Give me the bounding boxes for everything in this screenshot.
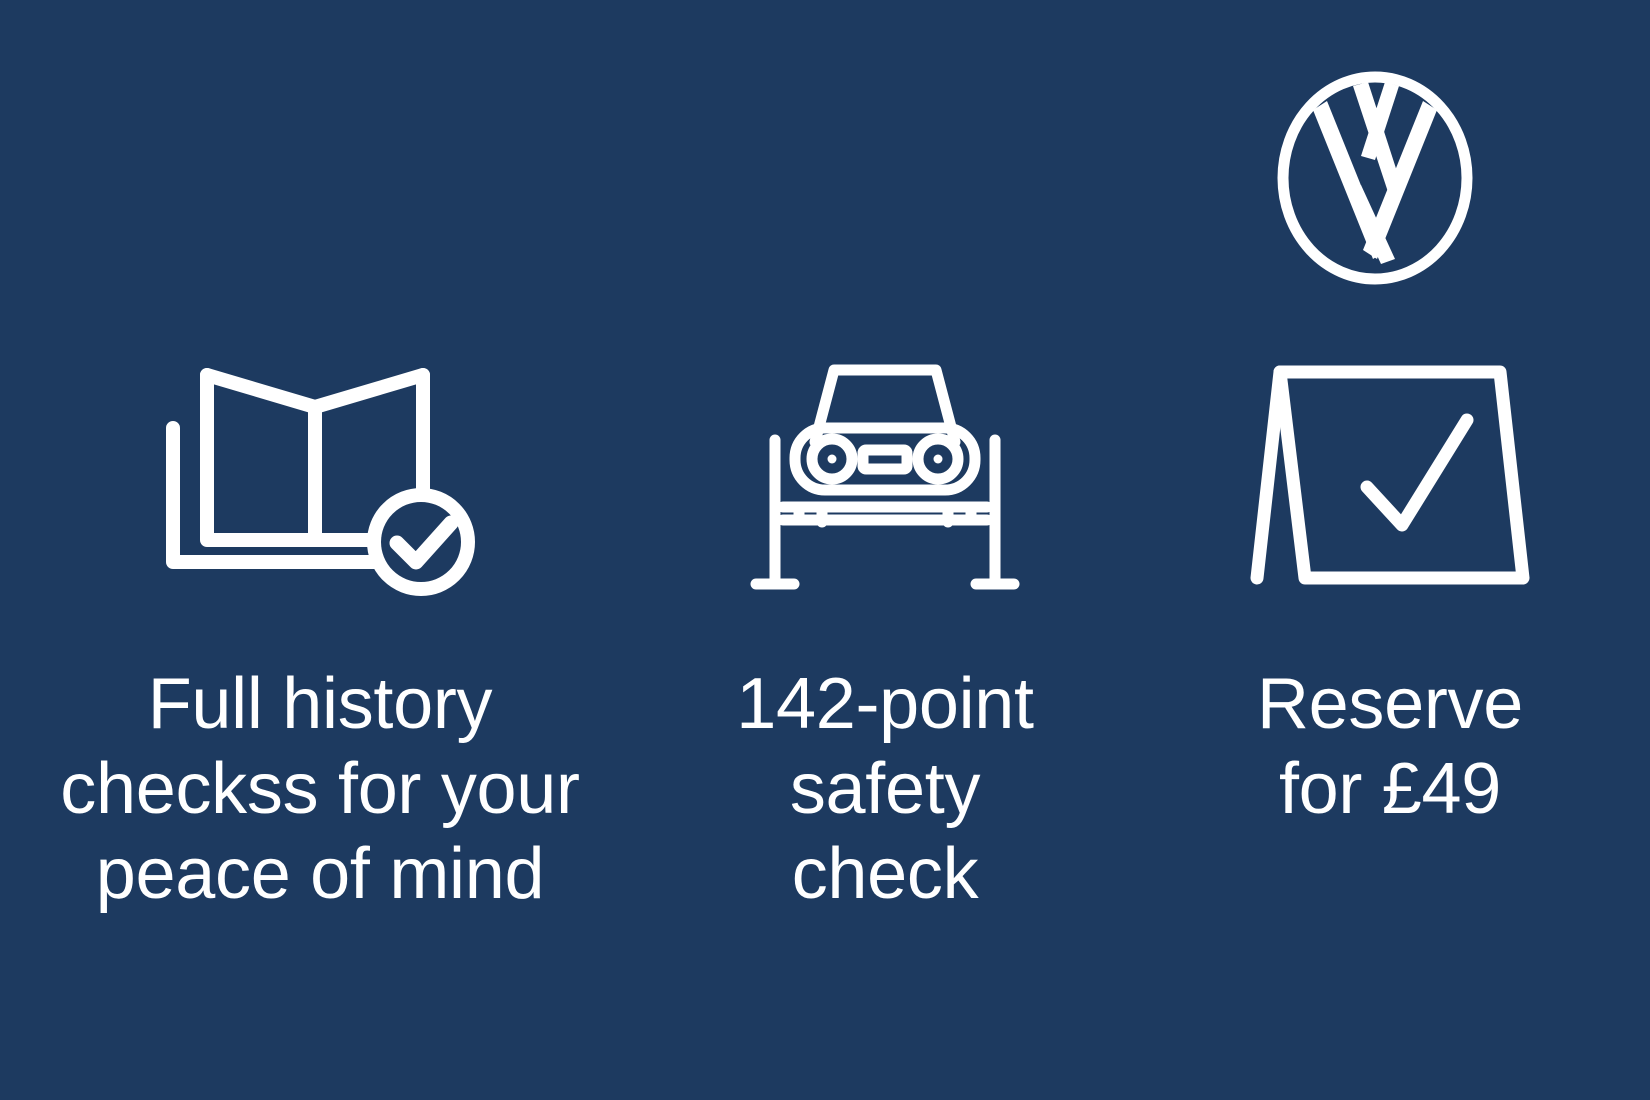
promo-banner: { "banner": { "background_color": "#1d3a… [0, 0, 1650, 1100]
feature-list: Full history checkss for your peace of m… [0, 330, 1650, 917]
feature-label: Full history checkss for your peace of m… [20, 662, 620, 917]
a-frame-sign-with-check-icon [1235, 330, 1545, 600]
volkswagen-logo-icon [1275, 68, 1475, 288]
feature-item-safety-check: 142-point safety check [640, 330, 1130, 917]
open-book-with-check-badge-icon [155, 330, 485, 600]
feature-item-history-checks: Full history checkss for your peace of m… [0, 330, 640, 917]
feature-label: Reserve for £49 [1140, 662, 1640, 832]
feature-item-reserve: Reserve for £49 [1130, 330, 1650, 832]
feature-label: 142-point safety check [650, 662, 1120, 917]
car-on-lift-icon [750, 330, 1020, 600]
